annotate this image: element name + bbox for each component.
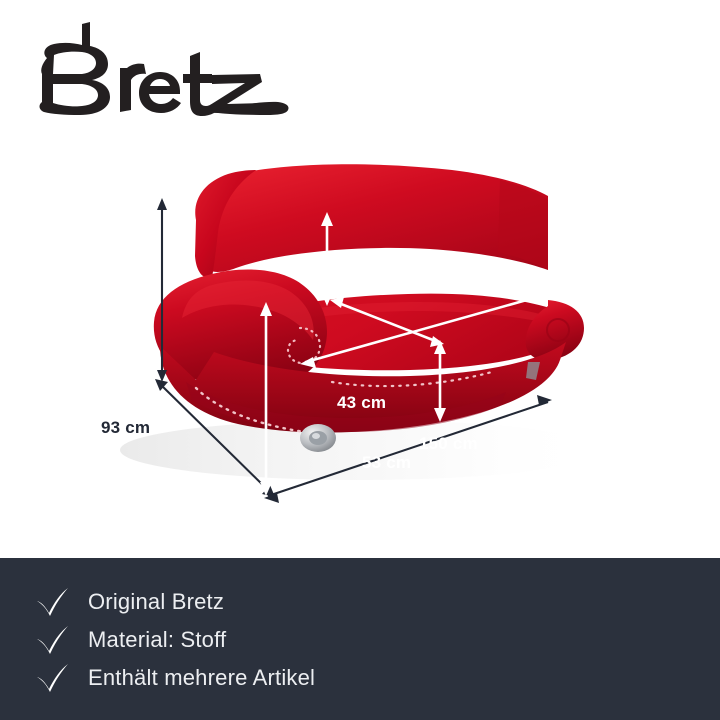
check-mark-icon bbox=[36, 625, 70, 655]
feature-item-original: Original Bretz bbox=[0, 583, 720, 621]
feature-label: Material: Stoff bbox=[88, 629, 226, 651]
feature-item-material: Material: Stoff bbox=[0, 621, 720, 659]
castor-wheel-icon bbox=[300, 424, 336, 452]
dimension-label-seat-height: 45 cm bbox=[345, 516, 394, 536]
feature-label: Enthält mehrere Artikel bbox=[88, 667, 315, 689]
feature-label: Original Bretz bbox=[88, 591, 224, 613]
feature-footer-bar: Original Bretz Material: Stoff Enthält m… bbox=[0, 558, 720, 720]
check-mark-icon bbox=[36, 663, 70, 693]
dimension-label-seat-width: 150 cm bbox=[419, 434, 478, 454]
feature-list: Original Bretz Material: Stoff Enthält m… bbox=[0, 558, 720, 720]
check-mark-icon bbox=[36, 587, 70, 617]
product-dimension-diagram: 93 cm 86 cm 210 cm 43 cm 150 cm 53 cm 45… bbox=[0, 150, 720, 558]
dimension-label-backrest-height: 43 cm bbox=[337, 393, 386, 413]
bretz-wordmark-logo bbox=[12, 18, 290, 120]
dimension-label-total-height: 93 cm bbox=[101, 418, 150, 438]
dimension-label-seat-depth: 53 cm bbox=[362, 453, 411, 473]
product-info-card: 93 cm 86 cm 210 cm 43 cm 150 cm 53 cm 45… bbox=[0, 0, 720, 720]
dimension-label-armrest-height: 66 cm bbox=[211, 498, 260, 518]
feature-item-multiple-articles: Enthält mehrere Artikel bbox=[0, 659, 720, 697]
